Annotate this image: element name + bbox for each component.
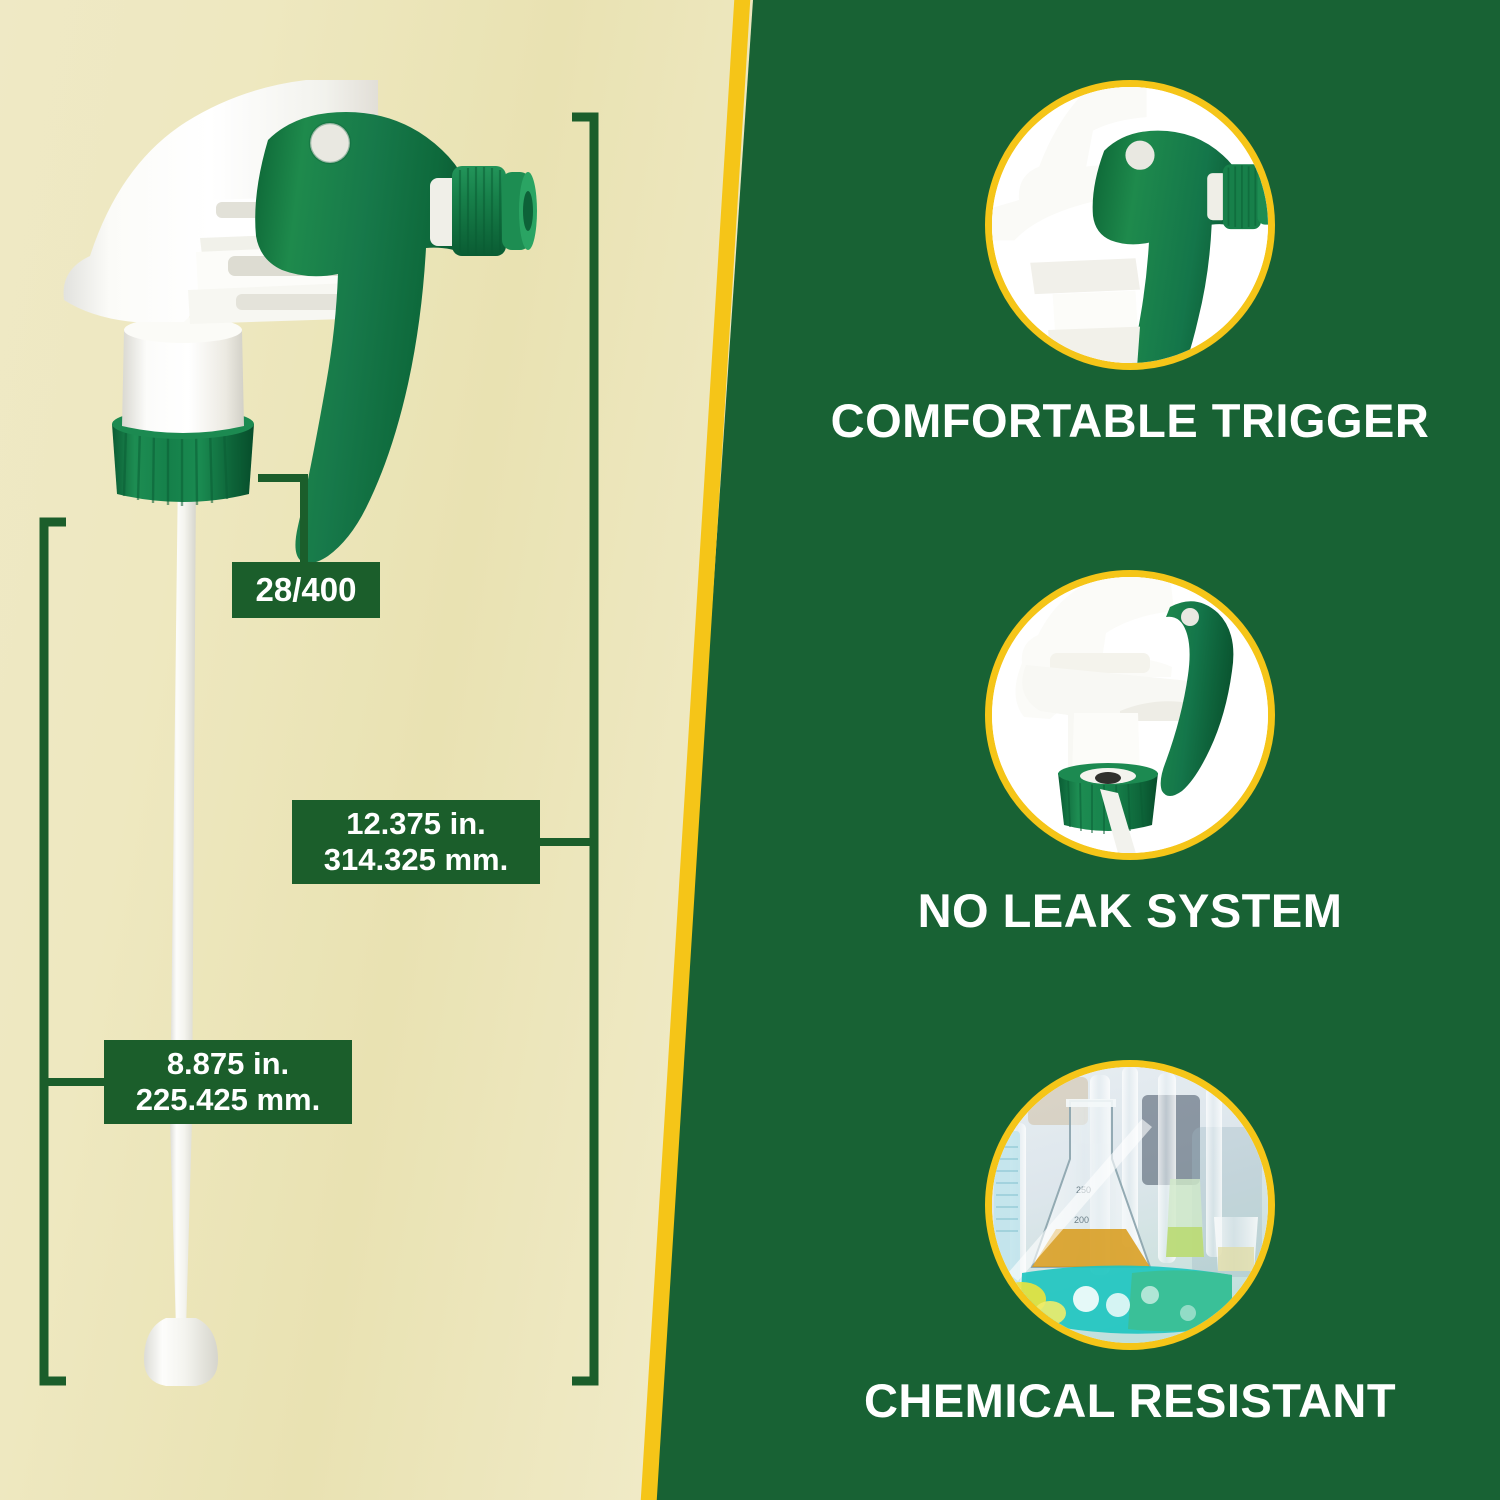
neck-finish-value: 28/400 bbox=[256, 571, 357, 609]
feature-caption: CHEMICAL RESISTANT bbox=[760, 1376, 1500, 1425]
neck-finish-leader bbox=[258, 478, 304, 568]
feature-caption: COMFORTABLE TRIGGER bbox=[760, 396, 1500, 445]
feature-list: COMFORTABLE TRIGGER bbox=[760, 0, 1500, 1500]
label-overall-length: 12.375 in. 314.325 mm. bbox=[292, 800, 540, 884]
feature-no-leak-system: NO LEAK SYSTEM bbox=[760, 570, 1500, 935]
feature-comfortable-trigger: COMFORTABLE TRIGGER bbox=[760, 80, 1500, 445]
trigger-closeup-photo bbox=[985, 80, 1275, 370]
product-infographic: 28/400 12.375 in. 314.325 mm. 8.875 in. … bbox=[0, 0, 1500, 1500]
dip-tube-mm: 225.425 mm. bbox=[136, 1082, 320, 1118]
label-dip-tube-length: 8.875 in. 225.425 mm. bbox=[104, 1040, 352, 1124]
label-neck-finish: 28/400 bbox=[232, 562, 380, 618]
sprayer-neck-closeup-photo bbox=[985, 570, 1275, 860]
overall-length-mm: 314.325 mm. bbox=[324, 842, 508, 878]
dip-tube-inches: 8.875 in. bbox=[167, 1046, 289, 1082]
overall-length-inches: 12.375 in. bbox=[346, 806, 486, 842]
dimension-lines bbox=[0, 0, 760, 1500]
overall-length-bracket bbox=[572, 117, 594, 1381]
feature-chemical-resistant: 250 200 bbox=[760, 1060, 1500, 1425]
lab-glassware-photo: 250 200 bbox=[985, 1060, 1275, 1350]
svg-text:200: 200 bbox=[1074, 1215, 1089, 1225]
dip-tube-bracket bbox=[44, 522, 66, 1381]
feature-caption: NO LEAK SYSTEM bbox=[760, 886, 1500, 935]
